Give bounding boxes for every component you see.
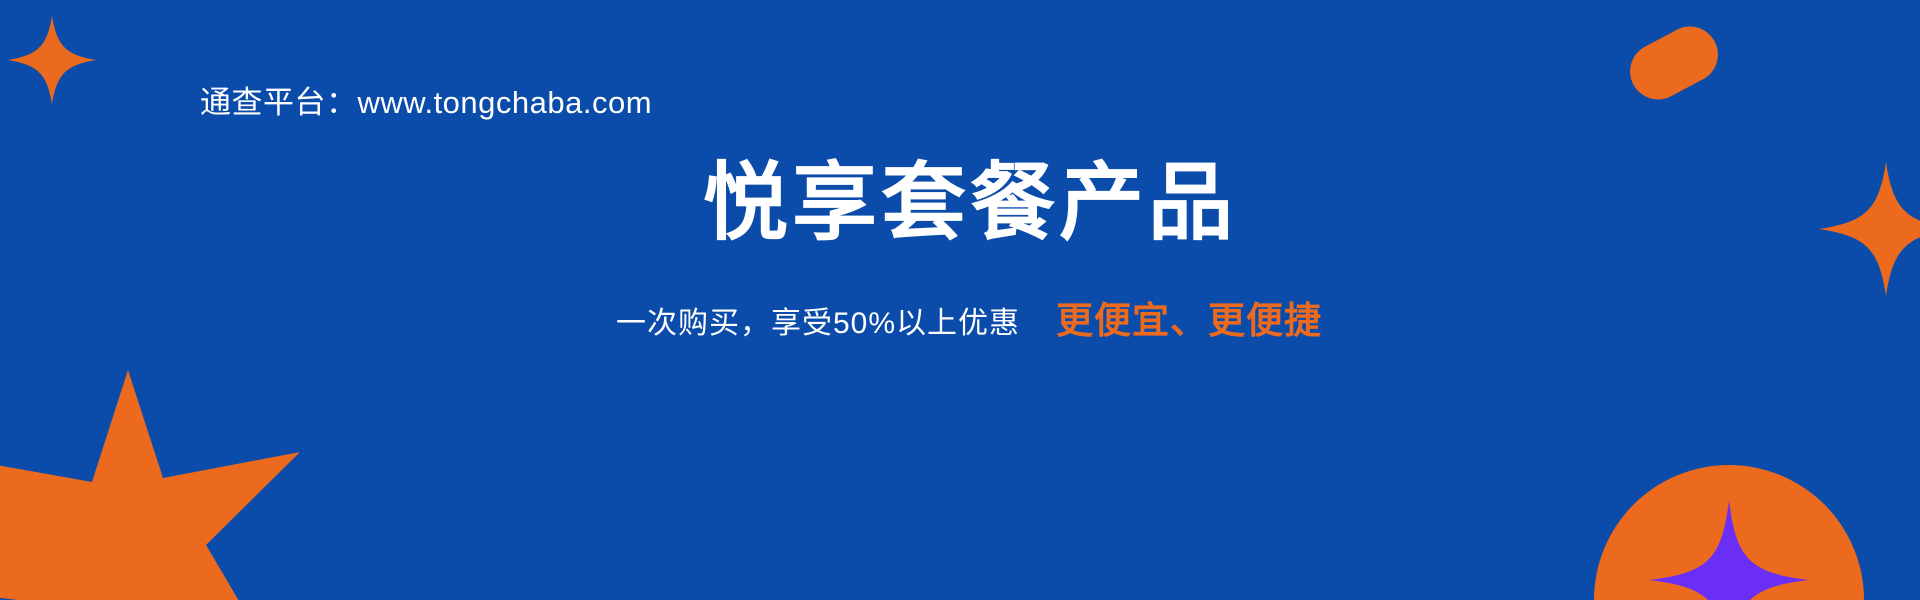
page-title: 悦享套餐产品 [0,157,1920,251]
promo-banner: 通查平台：www.tongchaba.com 悦享套餐产品 一次购买，享受50%… [0,0,1920,600]
subtitle-row: 一次购买，享受50%以上优惠 更便宜、更便捷 [0,290,1920,344]
subtitle-main-text: 一次购买，享受50%以上优惠 [616,298,1020,342]
subtitle-accent-text: 更便宜、更便捷 [1056,290,1322,344]
platform-url[interactable]: www.tongchaba.com [358,85,653,120]
platform-label: 通查平台： [200,85,358,120]
platform-line: 通查平台：www.tongchaba.com [200,84,652,123]
banner-content: 通查平台：www.tongchaba.com 悦享套餐产品 一次购买，享受50%… [0,0,1920,600]
